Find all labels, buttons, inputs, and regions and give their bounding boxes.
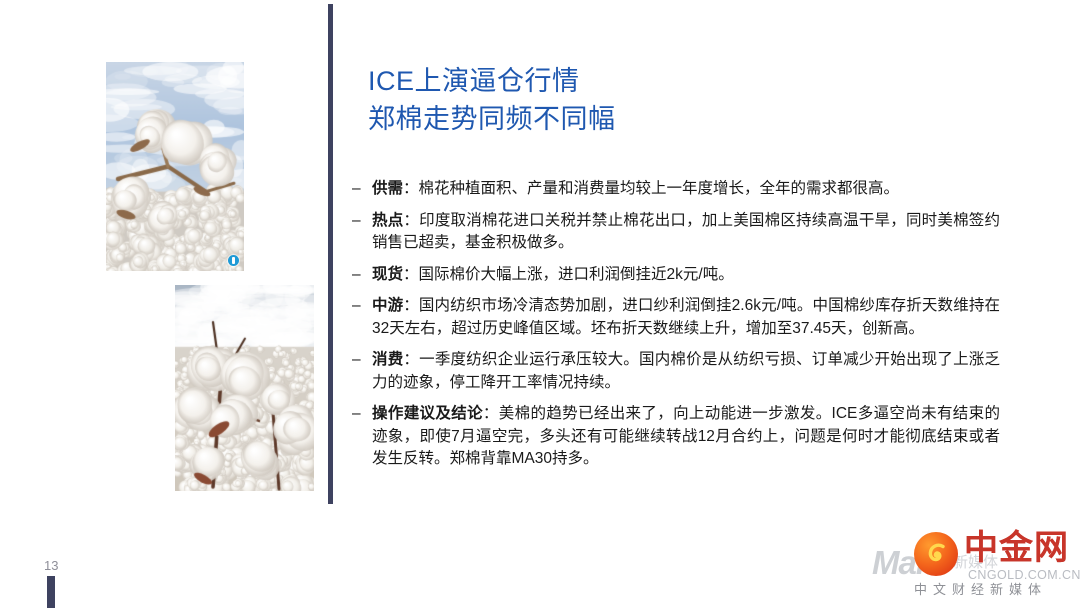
cotton-bolls-closeup-photo bbox=[106, 62, 244, 271]
bullet-marker-icon: – bbox=[352, 295, 372, 318]
bullet-label: 热点 bbox=[372, 212, 403, 229]
brand-slogan: 中文财经新媒体 bbox=[914, 582, 1047, 598]
bullet-content: 棉花种植面积、产量和消费量均较上一年度增长，全年的需求都很高。 bbox=[419, 180, 900, 197]
bullet-marker-icon: – bbox=[352, 178, 372, 201]
bullet-marker-icon: – bbox=[352, 349, 372, 372]
brand-emblem-icon bbox=[914, 532, 958, 576]
bullet-separator: ： bbox=[403, 297, 419, 314]
bullet-label: 操作建议及结论 bbox=[372, 405, 483, 422]
bullet-content: 印度取消棉花进口关税并禁止棉花出口，加上美国棉区持续高温干旱，同时美棉签约销售已… bbox=[372, 212, 1000, 252]
bullet-label: 现货 bbox=[372, 266, 403, 283]
bullet-content: 国际棉价大幅上涨，进口利润倒挂近2k元/吨。 bbox=[419, 266, 734, 283]
bullet-body: 供需：棉花种植面积、产量和消费量均较上一年度增长，全年的需求都很高。 bbox=[372, 178, 1000, 201]
brand-swirl-icon bbox=[921, 539, 951, 569]
bullet-label: 中游 bbox=[372, 297, 403, 314]
bullet-separator: ： bbox=[483, 405, 499, 422]
page-number: 13 bbox=[44, 558, 58, 573]
list-item: – 热点：印度取消棉花进口关税并禁止棉花出口，加上美国棉区持续高温干旱，同时美棉… bbox=[352, 210, 1000, 255]
photo-watermark-badge-icon bbox=[228, 255, 239, 266]
cotton-bolls-closeup-canvas bbox=[106, 62, 244, 271]
cotton-field-photo bbox=[175, 285, 314, 491]
bullet-content: 国内纺织市场冷清态势加剧，进口纱利润倒挂2.6k元/吨。中国棉纱库存折天数维持在… bbox=[372, 297, 1000, 337]
brand-domain: CNGOLD.COM.CN bbox=[968, 568, 1080, 582]
bullet-separator: ： bbox=[403, 351, 419, 368]
page-title: ICE上演逼仓行情 郑棉走势同频不同幅 bbox=[368, 62, 1008, 138]
bullet-list: – 供需：棉花种植面积、产量和消费量均较上一年度增长，全年的需求都很高。 – 热… bbox=[352, 178, 1000, 480]
bullet-body: 操作建议及结论：美棉的趋势已经出来了，向上动能进一步激发。ICE多逼空尚未有结束… bbox=[372, 403, 1000, 471]
vertical-divider bbox=[328, 4, 333, 504]
list-item: – 供需：棉花种植面积、产量和消费量均较上一年度增长，全年的需求都很高。 bbox=[352, 178, 1000, 201]
cotton-field-canvas bbox=[175, 285, 314, 491]
bullet-separator: ： bbox=[403, 212, 419, 229]
bullet-body: 消费：一季度纺织企业运行承压较大。国内棉价是从纺织亏损、订单减少开始出现了上涨乏… bbox=[372, 349, 1000, 394]
list-item: – 现货：国际棉价大幅上涨，进口利润倒挂近2k元/吨。 bbox=[352, 264, 1000, 287]
bullet-label: 消费 bbox=[372, 351, 403, 368]
page-title-line-1: ICE上演逼仓行情 bbox=[368, 62, 1008, 100]
bullet-label: 供需 bbox=[372, 180, 403, 197]
brand-name: 中金网 bbox=[964, 528, 1069, 568]
bullet-body: 热点：印度取消棉花进口关税并禁止棉花出口，加上美国棉区持续高温干旱，同时美棉签约… bbox=[372, 210, 1000, 255]
page-title-line-2: 郑棉走势同频不同幅 bbox=[368, 100, 1008, 138]
bullet-marker-icon: – bbox=[352, 264, 372, 287]
bullet-content: 一季度纺织企业运行承压较大。国内棉价是从纺织亏损、订单减少开始出现了上涨乏力的迹… bbox=[372, 351, 1000, 391]
page-number-bar bbox=[47, 576, 55, 608]
bullet-body: 中游：国内纺织市场冷清态势加剧，进口纱利润倒挂2.6k元/吨。中国棉纱库存折天数… bbox=[372, 295, 1000, 340]
bullet-marker-icon: – bbox=[352, 403, 372, 426]
list-item: – 消费：一季度纺织企业运行承压较大。国内棉价是从纺织亏损、订单减少开始出现了上… bbox=[352, 349, 1000, 394]
slide: ICE上演逼仓行情 郑棉走势同频不同幅 – 供需：棉花种植面积、产量和消费量均较… bbox=[0, 0, 1080, 608]
list-item: – 操作建议及结论：美棉的趋势已经出来了，向上动能进一步激发。ICE多逼空尚未有… bbox=[352, 403, 1000, 471]
bullet-marker-icon: – bbox=[352, 210, 372, 233]
bullet-body: 现货：国际棉价大幅上涨，进口利润倒挂近2k元/吨。 bbox=[372, 264, 1000, 287]
bullet-separator: ： bbox=[403, 266, 419, 283]
brand-logo: Make 迈新媒体 中金网 CNGOLD.COM.CN 中文财经新媒体 bbox=[872, 524, 1072, 604]
bullet-separator: ： bbox=[403, 180, 419, 197]
list-item: – 中游：国内纺织市场冷清态势加剧，进口纱利润倒挂2.6k元/吨。中国棉纱库存折… bbox=[352, 295, 1000, 340]
